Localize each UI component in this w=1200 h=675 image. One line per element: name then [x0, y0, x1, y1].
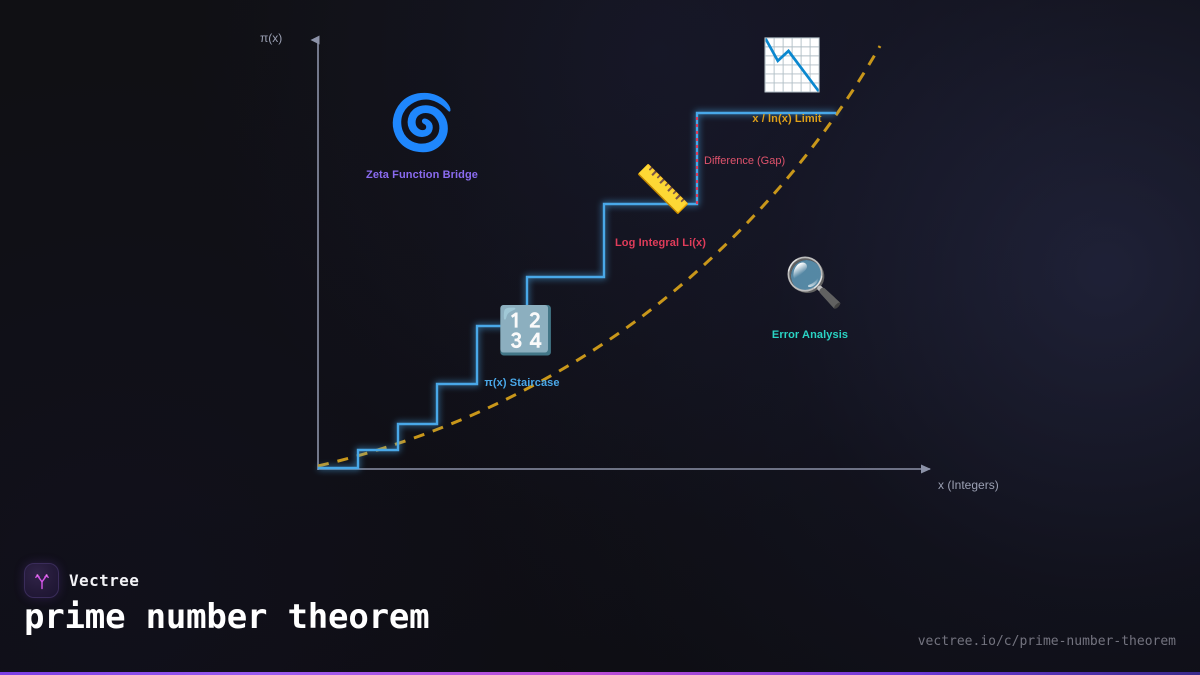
- node-log-integral-label: Log Integral Li(x): [568, 237, 753, 249]
- page-title: prime number theorem: [24, 597, 429, 637]
- diagram-canvas: π(x) x (Integers) 🌀 Zeta Function Bridge…: [0, 0, 1200, 545]
- brand-row[interactable]: Vectree: [24, 563, 139, 598]
- prime-number-theorem-chart: [0, 0, 1200, 545]
- node-zeta-label: Zeta Function Bridge: [322, 169, 522, 181]
- node-log-integral[interactable]: 📏 Log Integral Li(x): [634, 166, 686, 212]
- slide-root: π(x) x (Integers) 🌀 Zeta Function Bridge…: [0, 0, 1200, 675]
- annotation-difference-gap: Difference (Gap): [704, 155, 785, 167]
- cyclone-icon: 🌀: [382, 96, 462, 150]
- node-zeta-function-bridge[interactable]: 🌀 Zeta Function Bridge: [382, 96, 462, 150]
- vectree-tree-icon: [32, 571, 52, 591]
- magnifying-glass-icon: 🔍: [784, 260, 836, 308]
- chart-decreasing-icon: 📉: [761, 40, 813, 90]
- x-axis-label: x (Integers): [938, 478, 999, 492]
- node-error-analysis-label: Error Analysis: [729, 329, 891, 341]
- vectree-logo: [24, 563, 59, 598]
- node-pi-staircase-label: π(x) Staircase: [447, 377, 597, 389]
- y-axis-label: π(x): [260, 31, 282, 45]
- straight-ruler-icon: 📏: [634, 166, 686, 212]
- input-numbers-icon: 🔢: [497, 307, 547, 353]
- brand-name: Vectree: [69, 571, 139, 590]
- node-pi-staircase[interactable]: 🔢 π(x) Staircase: [497, 307, 547, 353]
- node-limit-label: x / ln(x) Limit: [713, 113, 861, 125]
- node-error-analysis[interactable]: 🔍 Error Analysis: [784, 260, 836, 308]
- page-url: vectree.io/c/prime-number-theorem: [918, 634, 1176, 649]
- node-x-over-lnx-limit[interactable]: 📉 x / ln(x) Limit: [761, 40, 813, 90]
- footer: Vectree prime number theorem vectree.io/…: [0, 545, 1200, 675]
